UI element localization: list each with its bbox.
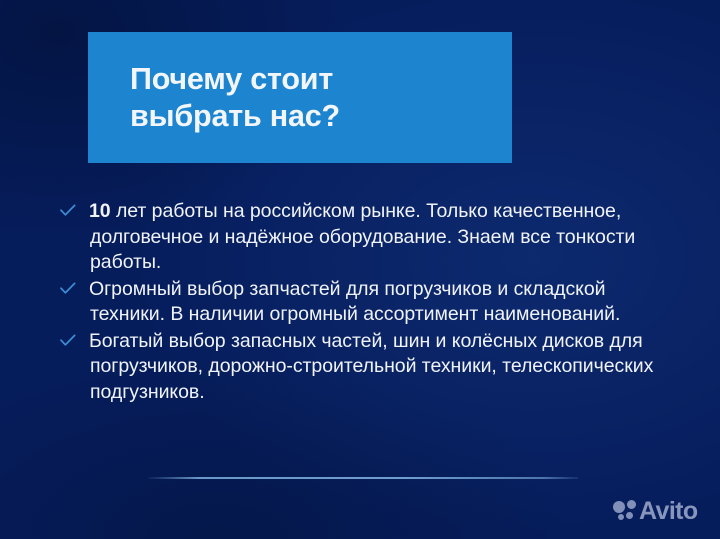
list-item: Огромный выбор запчастей для погрузчиков… [60,277,685,328]
benefits-list: 10 лет работы на российском рынке. Тольк… [60,199,685,406]
list-item-body: лет работы на российском рынке. Только к… [90,200,635,273]
list-item-body: Огромный выбор запчастей для погрузчиков… [89,278,620,326]
check-icon [60,199,90,217]
page-title: Почему стоит выбрать нас? [130,61,500,135]
list-item-text: Огромный выбор запчастей для погрузчиков… [90,277,685,328]
avito-wordmark: Avito [639,499,698,523]
list-item: Богатый выбор запасных частей, шин и кол… [60,329,685,406]
title-block: Почему стоит выбрать нас? [88,32,512,163]
check-icon [60,329,90,347]
list-item-text: Богатый выбор запасных частей, шин и кол… [90,329,685,406]
avito-dots-icon [613,499,637,523]
slide-canvas: Почему стоит выбрать нас? 10 лет работы … [0,0,720,539]
check-icon [60,277,90,295]
list-item-text: 10 лет работы на российском рынке. Тольк… [90,199,685,276]
list-item: 10 лет работы на российском рынке. Тольк… [60,199,685,276]
list-item-lead: 10 [89,200,111,222]
list-item-body: Богатый выбор запасных частей, шин и кол… [89,330,653,403]
avito-watermark: Avito [613,499,698,523]
divider [148,477,578,479]
